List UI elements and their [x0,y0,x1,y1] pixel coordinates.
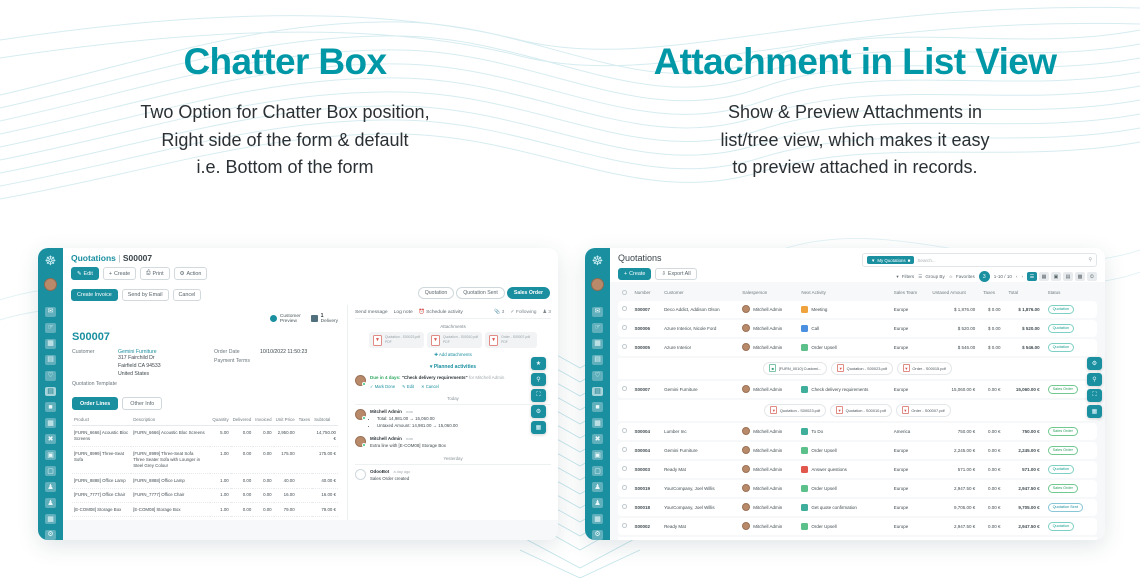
remove-facet-icon[interactable]: ■ [908,258,911,263]
activity-actions[interactable]: ✓ Mark Done ✎ Edit ✕ Cancel [370,384,551,391]
checkbox-icon[interactable] [622,466,627,471]
status-badge: Sales Order [1048,446,1078,455]
sidebar-icon-contacts[interactable]: ▤ [45,355,56,365]
attachment-card[interactable]: ▼ Quotation - S00010.pdf PDF [427,332,482,348]
checkbox-icon[interactable] [622,325,627,330]
table-row[interactable]: S00004 Gemini Furniture Mitchell Admin O… [618,442,1097,459]
attachment-type: PDF [385,340,420,345]
search-icon[interactable]: ⚲ [531,373,546,386]
list-controls[interactable]: ▾Filters ☰Group By ☆Favorites 3 1-10 / 1… [896,271,1097,282]
sidebar-icon-apps[interactable]: ▦ [592,514,603,524]
odoo-logo-icon: ☸ [42,253,59,270]
cell-description: [FURN_8888] Office Lamp [131,474,210,488]
row-attachments[interactable]: ▼Quotation - S00023.pdf ▼Quotation - S00… [622,404,1093,417]
status-badge: Quotation [1048,324,1074,333]
sidebar-icon-contacts[interactable]: ▤ [592,355,603,365]
cell-select[interactable] [618,480,631,497]
pager-next-button[interactable]: › [1021,274,1023,279]
attachments-list[interactable]: ▼ Quotation - S00023.pdf PDF ▼ Quotation… [355,332,551,348]
col-customer[interactable]: Customer [660,287,738,299]
filter-icon: ▾ [896,274,898,280]
cell-untaxed: 2,947.50 € [928,480,979,497]
mockup-list-view-with-attachments[interactable]: ☸ ✉ ☞ ▦ ▤ ♡ ▤ ■ ▦ ✖ ▣ ▢ ♟ ♟ ▦ ⚙ Quotatio… [585,248,1105,540]
sidebar-icon-website[interactable]: ▢ [592,466,603,476]
attachments-section-label: Attachments [355,324,551,329]
settings-icon[interactable]: ⚙ [1087,357,1102,370]
cell-subtotal: 79.00 € [312,503,338,517]
statusbar[interactable]: Quotation Quotation Sent Sales Order [418,287,550,299]
create-button[interactable]: + Create [618,268,651,280]
user-avatar[interactable] [44,278,57,291]
message-header: Mitchell Admin now [370,436,551,443]
cell-quantity: 1.00 [210,447,230,474]
payment-terms-row: Payment Terms [214,358,338,364]
col-taxes[interactable]: Taxes [979,287,1004,299]
cell-number: S00019 [631,480,661,497]
selection-count-badge[interactable]: 3 [979,271,990,282]
cell-quantity: 1.00 [210,503,230,517]
col-description[interactable]: Description [131,414,210,426]
col-unit-price[interactable]: Unit Price [274,414,297,426]
delivery-smart-button[interactable]: 1 Delivery [311,313,338,324]
avatar [742,484,750,492]
chatter-box: Send message Log note ⏰ Schedule activit… [348,305,558,520]
cell-taxes: 0.00 € [979,499,1004,516]
attachment-chip-label: Quotation - S00023.pdf [847,366,887,371]
cell-next-activity: Meeting [797,301,889,318]
create-button-label: Create [114,271,130,277]
attachment-card[interactable]: ▼ Quotation - S00023.pdf PDF [369,332,424,348]
following-button[interactable]: ✓ Following [510,309,536,315]
sidebar-icon-apps[interactable]: ▦ [45,514,56,524]
table-row[interactable]: S00007 Deco Addict, Addison Olson Mitche… [618,301,1097,318]
customer-preview-smart-button[interactable]: Customer Preview [270,313,301,324]
create-button-label: Create [629,271,645,277]
activity-body: Due in 4 days: "Check delivery requireme… [370,375,551,390]
table-row[interactable]: [FURN_8999] Three-Seat Sofa [FURN_8999] … [72,447,338,474]
col-quantity[interactable]: Quantity [210,414,230,426]
graph-icon[interactable]: ▩ [1075,272,1085,281]
right-main-pane: Quotations + Create ⇩ Export All [610,248,1105,540]
schedule-activity-button[interactable]: ⏰ Schedule activity [419,309,463,315]
avatar [742,465,750,473]
sidebar-icon-website[interactable]: ▢ [45,466,56,476]
expand-icon[interactable]: ⛶ [531,389,546,402]
table-row[interactable]: S00004 Lumber Inc Mitchell Admin To Do A… [618,423,1097,440]
sidebar-icon-invoicing[interactable]: ■ [592,402,603,412]
pdf-icon: ▼ [431,335,440,346]
col-status[interactable]: Status [1044,287,1097,299]
summary-taxes: 0.00 [979,537,1004,541]
table-row[interactable]: S00006 Azure Interior, Nicole Ford Mitch… [618,320,1097,337]
cell-status: Quotation [1044,320,1097,337]
customer-field-value-block: Gemini Furniture 317 Fairchild Dr Fairfi… [118,349,161,378]
cell-next-activity: Answer questions [797,461,889,478]
form-fields-right-column: Order Date 10/10/2022 11:50:23 Payment T… [214,349,338,390]
cell-select[interactable] [618,442,631,459]
checkbox-icon[interactable] [622,447,627,452]
attachment-chip[interactable]: ▼Quotation - S00010.pdf [830,404,892,417]
export-all-button[interactable]: ⇩ Export All [655,268,696,280]
cell-select[interactable] [618,423,631,440]
cell-number: S00007 [631,301,661,318]
checkbox-icon[interactable] [622,290,627,295]
calendar-icon[interactable]: ▣ [1051,272,1061,281]
cancel-button[interactable]: Cancel [173,289,202,301]
sidebar-icon-manufacturing[interactable]: ✖ [45,434,56,444]
sidebar-icon-calendar[interactable]: ▦ [45,339,56,349]
kanban-icon[interactable]: ▦ [1039,272,1049,281]
online-dot [362,443,366,447]
quotation-template-label: Quotation Template [72,381,117,387]
right-control-panel: Quotations + Create ⇩ Export All [610,248,1105,282]
download-icon: ⇩ [661,271,666,277]
checkbox-icon[interactable] [622,523,627,528]
grid-icon[interactable]: ▦ [531,421,546,434]
table-row[interactable]: [FURN_7777] Office Chair [FURN_7777] Off… [72,488,338,502]
cell-taxes: $ 0.00 [979,339,1004,356]
activity-status-dot [362,382,366,386]
star-icon: ☆ [949,274,953,280]
planned-activity-item: Due in 4 days: "Check delivery requireme… [355,375,551,390]
order-lines-header-row: Product Description Quantity Delivered I… [72,414,338,426]
search-facet-my-quotations[interactable]: ▼ My Quotations ■ [867,256,914,264]
cell-taxes: $ 0.00 [979,301,1004,318]
left-floating-action-buttons[interactable]: ★ ⚲ ⛶ ⚙ ▦ [531,357,546,434]
status-quotation-sent[interactable]: Quotation Sent [456,287,505,299]
tab-order-lines[interactable]: Order Lines [72,397,118,410]
cancel-activity-link[interactable]: ✕ Cancel [421,384,439,391]
cell-untaxed: $ 546.00 [928,339,979,356]
send-message-button[interactable]: Send message [355,310,388,315]
create-button[interactable]: + Create [103,267,136,280]
cell-taxes [297,426,312,447]
message-body: OdooBot a day ago Sales Order created [370,469,551,483]
group-by-button[interactable]: ☰Group By [918,274,945,280]
cell-invoiced: 0.00 [253,447,273,474]
add-attachments-button[interactable]: ✚ Add attachments [355,352,551,358]
col-salesperson[interactable]: Salesperson [738,287,797,299]
customer-field-row: Customer Gemini Furniture 317 Fairchild … [72,349,196,378]
sidebar-icon-megaphone[interactable]: ☞ [592,323,603,333]
online-dot [362,416,366,420]
sidebar-icon-recruitment[interactable]: ♟ [45,498,56,508]
attachment-chip-label: Quotation - S00010.pdf [846,408,886,413]
calendar-icon [801,504,808,511]
user-avatar[interactable] [591,278,604,291]
col-next-activity[interactable]: Next Activity [797,287,889,299]
attachment-chip[interactable]: ▼Quotation - S00023.pdf [764,404,826,417]
search-placeholder: Search... [917,258,935,263]
cell-product: [FURN_6666] Acoustic Bloc Screens [72,426,131,447]
cell-select[interactable] [618,320,631,337]
cell-product: [FURN_7777] Office Chair [72,488,131,502]
col-subtotal[interactable]: Subtotal [312,414,338,426]
col-number[interactable]: Number [631,287,661,299]
cell-customer: Azure Interior [660,339,738,356]
attachment-name: Order - S00007.pdf PDF [501,335,530,345]
cell-description: [FURN_8999] Three-Seat Sofa Three Seater… [131,447,210,474]
left-control-panel: Quotations | S00007 ✎ Edit + Create ⎙ [63,248,558,305]
row-attachments[interactable]: ■[FURN_0010] Customi... ▼Quotation - S00… [622,362,1093,375]
checkbox-icon[interactable] [622,344,627,349]
sidebar-icon-recruitment[interactable]: ♟ [592,498,603,508]
sidebar-icon-inventory[interactable]: ▦ [592,418,603,428]
form-sheet: Customer Preview 1 Delivery S00007 [63,305,348,520]
cell-next-activity: Check delivery requirements [797,381,889,398]
expand-icon[interactable]: ⛶ [1087,389,1102,402]
view-switcher[interactable]: ☰ ▦ ▣ ▤ ▩ ⏲ [1027,272,1097,281]
sidebar-icon-settings[interactable]: ⚙ [592,530,603,540]
sidebar-icon-inventory[interactable]: ▦ [45,418,56,428]
record-action-buttons[interactable]: Create Invoice Send by Email Cancel [71,289,201,301]
table-row[interactable]: S00005 Azure Interior Mitchell Admin Ord… [618,339,1097,356]
tab-other-info[interactable]: Other Info [122,397,162,410]
cell-select[interactable] [618,301,631,318]
cell-unit-price: 40.00 [274,474,297,488]
cell-unit-price: 175.00 [274,447,297,474]
edit-activity-link[interactable]: ✎ Edit [402,384,414,391]
message-time: now [406,437,413,441]
attachment-chip[interactable]: ▼Order - S00015.pdf [897,362,952,375]
sidebar-icon-invoicing[interactable]: ■ [45,402,56,412]
page-title: Quotations [618,253,697,263]
checkbox-icon[interactable] [622,485,627,490]
mark-done-link[interactable]: ✓ Mark Done [370,384,395,391]
create-invoice-button[interactable]: Create Invoice [71,289,118,301]
activity-summary: Due in 4 days: "Check delivery requireme… [370,375,551,382]
form-notebook-tabs[interactable]: Order Lines Other Info [72,397,338,410]
cell-salesperson: Mitchell Admin [738,518,797,535]
attachment-chip[interactable]: ▼Quotation - S00023.pdf [831,362,893,375]
attachment-chip-label: [FURN_0010] Customi... [779,366,821,371]
cell-salesperson: Mitchell Admin [738,423,797,440]
order-date-value[interactable]: 10/10/2022 11:50:23 [260,349,307,355]
truck-icon [311,315,318,322]
day-divider-today: Today [355,396,551,405]
follower-controls[interactable]: 📎 3 ✓ Following ♟ 3 [494,309,551,315]
cell-number: S00006 [631,320,661,337]
checkbox-icon[interactable] [622,504,627,509]
table-row[interactable]: [FURN_6666] Acoustic Bloc Screens [FURN_… [72,426,338,447]
cell-unit-price: 79.00 [274,503,297,517]
action-button[interactable]: ⚙ Action [174,267,208,280]
planned-activities-label: ▾ Planned activities [355,364,551,370]
list-title-block: Quotations + Create ⇩ Export All [618,253,697,280]
avatar [355,409,366,420]
status-sales-order[interactable]: Sales Order [507,287,550,299]
col-taxes[interactable]: Taxes [297,414,312,426]
sidebar-icon-megaphone[interactable]: ☞ [45,323,56,333]
sidebar-icon-purchase[interactable]: ▣ [592,450,603,460]
message-body: Mitchell Admin now Total: 14,981.00 → 15… [370,409,551,430]
breadcrumb[interactable]: Quotations | S00007 [71,253,550,263]
form-toolbar[interactable]: ✎ Edit + Create ⎙ Print ⚙ Action [71,267,550,280]
left-app-sidebar[interactable]: ☸ ✉ ☞ ▦ ▤ ♡ ▤ ■ ▦ ✖ ▣ ▢ ♟ ♟ ▦ ⚙ [38,248,63,540]
col-total[interactable]: Total [1004,287,1043,299]
day-divider-yesterday: Yesterday [355,456,551,465]
cell-customer: Ready Mat [660,461,738,478]
table-row[interactable]: [E-COM08] Storage Box [E-COM08] Storage … [72,503,338,517]
table-row[interactable]: S00007 Gemini Furniture Mitchell Admin C… [618,381,1097,398]
breadcrumb-root[interactable]: Quotations [71,253,116,263]
cell-next-activity: Order Upsell [797,480,889,497]
chatter-action-bar[interactable]: Send message Log note ⏰ Schedule activit… [355,309,551,319]
headline-title-chatter-box: Chatter Box [0,42,570,83]
cell-untaxed: 2,245.00 € [928,442,979,459]
attachment-type: PDF [501,340,530,345]
message-line: Total: 14,981.00 → 15,060.00 [377,416,551,423]
cell-next-activity: Call [797,320,889,337]
star-icon[interactable]: ★ [531,357,546,370]
breadcrumb-record: S00007 [123,253,152,263]
cell-customer: Azure Interior, Nicole Ford [660,320,738,337]
search-icon[interactable]: ⚲ [1088,257,1092,263]
checkbox-icon[interactable] [622,306,627,311]
cell-invoiced: 0.00 [253,474,273,488]
summary-spacer [618,537,928,541]
send-by-email-button[interactable]: Send by Email [122,289,169,301]
sidebar-icon-crm[interactable]: ♡ [592,371,603,381]
table-row[interactable]: S00018 YourCompany, Joel Willis Mitchell… [618,499,1097,516]
sidebar-icon-purchase[interactable]: ▣ [45,450,56,460]
pivot-icon[interactable]: ▤ [1063,272,1073,281]
col-untaxed-amount[interactable]: Untaxed Amount [928,287,979,299]
status-badge: Sales Order [1048,385,1078,394]
cell-select[interactable] [618,499,631,516]
cell-sales-team: America [890,423,929,440]
cell-taxes [297,447,312,474]
filters-button[interactable]: ▾Filters [896,274,914,280]
table-row[interactable]: S00002 Ready Mat Mitchell Admin Order Up… [618,518,1097,535]
settings-icon[interactable]: ⚙ [531,405,546,418]
sidebar-icon-sales[interactable]: ▤ [592,387,603,397]
cell-unit-price: 2,950.00 [274,426,297,447]
right-app-sidebar[interactable]: ☸ ✉ ☞ ▦ ▤ ♡ ▤ ■ ▦ ✖ ▣ ▢ ♟ ♟ ▦ ⚙ [585,248,610,540]
image-icon: ■ [769,364,776,372]
cell-description: [E-COM08] Storage Box [131,503,210,517]
sidebar-icon-employees[interactable]: ♟ [45,482,56,492]
search-input[interactable]: ▼ My Quotations ■ Search... ⚲ [862,253,1097,267]
cell-sales-team: Europe [890,320,929,337]
col-sales-team[interactable]: Sales Team [890,287,929,299]
right-floating-action-buttons[interactable]: ⚙ ⚲ ⛶ ▦ [1087,357,1102,418]
status-badge: Sales Order [1048,484,1078,493]
pdf-icon: ▼ [373,335,382,346]
smart-button-row[interactable]: Customer Preview 1 Delivery [72,311,338,329]
message-body: Mitchell Admin now Extra line with [E-CO… [370,436,551,450]
order-lines-body: [FURN_6666] Acoustic Bloc Screens [FURN_… [72,426,338,517]
list-header-row: Number Customer Salesperson Next Activit… [618,287,1097,299]
grid-icon[interactable]: ▦ [1087,405,1102,418]
pager-previous-button[interactable]: ‹ [1016,274,1018,279]
table-row[interactable]: S00019 YourCompany, Joel Willis Mitchell… [618,480,1097,497]
attachment-chip[interactable]: ▼Order - S00007.pdf [896,404,951,417]
cell-select[interactable] [618,339,631,356]
list-view-icon[interactable]: ☰ [1027,272,1037,281]
sidebar-icon-inbox[interactable]: ✉ [45,307,56,317]
sidebar-icon-inbox[interactable]: ✉ [592,307,603,317]
print-button[interactable]: ⎙ Print [140,267,169,280]
list-toolbar[interactable]: + Create ⇩ Export All [618,268,697,280]
cell-salesperson: Mitchell Admin [738,499,797,516]
cell-salesperson: Mitchell Admin [738,339,797,356]
sidebar-icon-crm[interactable]: ♡ [45,371,56,381]
delivery-label: Delivery [321,319,338,324]
checkbox-icon[interactable] [622,428,627,433]
action-and-status-row: Create Invoice Send by Email Cancel Quot… [71,285,550,305]
chart-icon [801,523,808,530]
cell-select[interactable] [618,461,631,478]
sidebar-icon-calendar[interactable]: ▦ [592,339,603,349]
record-title: S00007 [72,331,338,343]
table-row[interactable]: [FURN_8888] Office Lamp [FURN_8888] Offi… [72,474,338,488]
status-quotation[interactable]: Quotation [418,287,455,299]
col-select-all[interactable] [618,287,631,299]
col-product[interactable]: Product [72,414,131,426]
cell-sales-team: Europe [890,339,929,356]
activity-icon[interactable]: ⏲ [1087,272,1097,281]
cell-number: S00002 [631,518,661,535]
avatar [742,305,750,313]
payment-terms-label: Payment Terms [214,358,260,364]
pager-range[interactable]: 1-10 / 10 [994,274,1012,279]
cell-subtotal: 40.00 € [312,474,338,488]
customer-field-label: Customer [72,349,118,378]
sidebar-icon-sales[interactable]: ▤ [45,387,56,397]
cell-number: S00004 [631,442,661,459]
attachment-row: ▼Quotation - S00023.pdf ▼Quotation - S00… [618,400,1097,421]
cell-quantity: 1.00 [210,474,230,488]
checkbox-icon[interactable] [622,386,627,391]
log-note-button[interactable]: Log note [394,310,413,315]
cell-select[interactable] [618,381,631,398]
attachment-chip[interactable]: ■[FURN_0010] Customi... [763,362,827,375]
followers-count[interactable]: ♟ 3 [543,309,551,315]
edit-button[interactable]: ✎ Edit [71,267,99,280]
sidebar-icon-manufacturing[interactable]: ✖ [592,434,603,444]
cell-subtotal: 175.00 € [312,447,338,474]
message-line: Untaxed Amount: 14,981.00 → 15,060.00 [377,423,551,430]
attachment-row-cell: ■[FURN_0010] Customi... ▼Quotation - S00… [618,358,1097,379]
sidebar-icon-settings[interactable]: ⚙ [45,530,56,540]
table-row[interactable]: S00003 Ready Mat Mitchell Admin Answer q… [618,461,1097,478]
attachment-card[interactable]: ▼ Order - S00007.pdf PDF [485,332,537,348]
cell-product: [FURN_8888] Office Lamp [72,474,131,488]
favorites-button[interactable]: ☆Favorites [949,274,975,280]
message-author: Mitchell Admin [370,436,402,441]
cell-taxes: 0.00 € [979,461,1004,478]
cell-sales-team: Europe [890,301,929,318]
cell-salesperson: Mitchell Admin [738,480,797,497]
left-main-pane: Quotations | S00007 ✎ Edit + Create ⎙ [63,248,558,540]
sidebar-icon-employees[interactable]: ♟ [592,482,603,492]
cell-untaxed: $ 520.00 [928,320,979,337]
search-and-controls: ▼ My Quotations ■ Search... ⚲ ▾Filters ☰… [862,253,1097,282]
mockup-form-view-with-chatter[interactable]: ☸ ✉ ☞ ▦ ▤ ♡ ▤ ■ ▦ ✖ ▣ ▢ ♟ ♟ ▦ ⚙ Quotatio… [38,248,558,540]
form-fields-left-column: Customer Gemini Furniture 317 Fairchild … [72,349,196,390]
col-delivered[interactable]: Delivered [231,414,254,426]
cell-taxes: $ 0.00 [979,320,1004,337]
message-line: Extra line with [E-COM08] Storage Box [370,443,551,450]
activity-assignee: for Mitchell Admin [469,375,505,380]
search-icon[interactable]: ⚲ [1087,373,1102,386]
avatar [742,503,750,511]
cell-delivered: 0.00 [231,474,254,488]
col-invoiced[interactable]: Invoiced [253,414,273,426]
list-summary-row: 36,171.50 0.00 36,171.50 [618,537,1097,541]
cell-select[interactable] [618,518,631,535]
